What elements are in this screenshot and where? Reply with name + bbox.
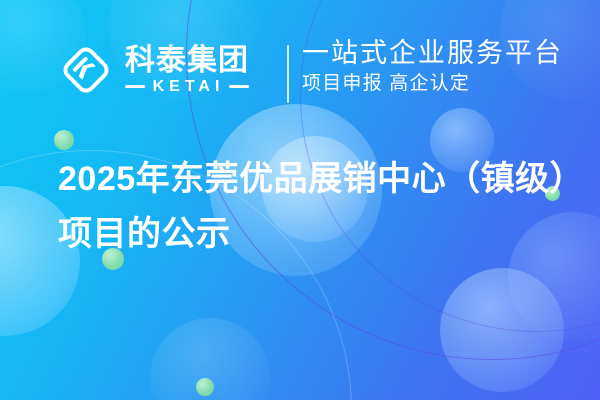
ketai-diamond-k-logo-icon xyxy=(58,42,114,98)
page-title-line-1: 2025年东莞优品展销中心（镇级） xyxy=(58,152,578,207)
tagline-secondary: 项目申报 高企认定 xyxy=(302,72,563,97)
brand-wordmark: 科泰集团 KETAI xyxy=(125,46,249,95)
decor-circle-lower-right xyxy=(440,268,564,392)
rule-left xyxy=(125,85,145,88)
brand-logo: 科泰集团 KETAI xyxy=(58,42,249,98)
decor-circle-lower-left xyxy=(150,318,270,400)
header-divider xyxy=(287,45,289,103)
banner-title: 2025年东莞优品展销中心（镇级） 项目的公示 xyxy=(58,152,578,262)
tagline-primary: 一站式企业服务平台 xyxy=(302,38,563,69)
rule-right xyxy=(229,85,249,88)
promo-banner: 科泰集团 KETAI 一站式企业服务平台 项目申报 高企认定 2025年东莞优品… xyxy=(0,0,600,400)
decor-dot-green xyxy=(196,378,214,396)
brand-name-en: KETAI xyxy=(150,79,225,95)
brand-tagline: 一站式企业服务平台 项目申报 高企认定 xyxy=(302,38,563,97)
page-title-line-2: 项目的公示 xyxy=(58,207,578,262)
brand-name-cn: 科泰集团 xyxy=(125,46,249,76)
brand-name-en-row: KETAI xyxy=(125,79,249,95)
banner-header: 科泰集团 KETAI 一站式企业服务平台 项目申报 高企认定 xyxy=(0,0,600,140)
